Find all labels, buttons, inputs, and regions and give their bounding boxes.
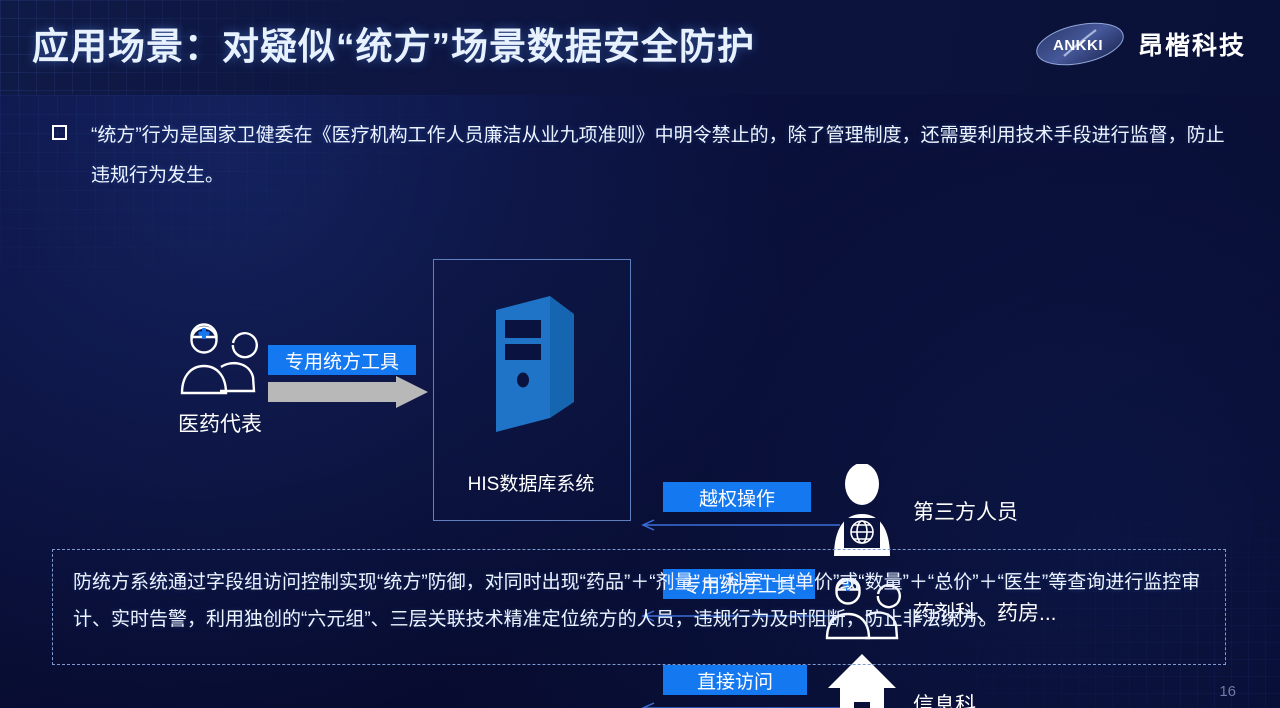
summary-note-box: 防统方系统通过字段组访问控制实现“统方”防御，对同时出现“药品”＋“剂量”＋“科… xyxy=(52,549,1226,665)
summary-note-text: 防统方系统通过字段组访问控制实现“统方”防御，对同时出现“药品”＋“剂量”＋“科… xyxy=(73,564,1203,638)
actor-label-third-party: 第三方人员 xyxy=(913,496,1018,526)
gray-block-arrow-icon xyxy=(268,376,428,408)
his-system-label: HIS数据库系统 xyxy=(433,469,629,496)
brand-logo: ANKKI 昂楷科技 xyxy=(1034,22,1246,66)
person-with-laptop-globe-icon xyxy=(826,464,898,556)
bullet-text: “统方”行为是国家卫健委在《医疗机构工作人员廉洁从业九项准则》中明令禁止的，除了… xyxy=(91,116,1242,196)
ankki-logo-icon: ANKKI xyxy=(1034,22,1126,66)
medical-rep-icon xyxy=(178,323,258,397)
arrow-left-1-icon xyxy=(640,518,840,530)
arrow-left-3-icon xyxy=(640,701,840,708)
flow-label-right-1: 越权操作 xyxy=(663,482,811,512)
architecture-diagram: HIS数据库系统 医药代表 专用统方工具 xyxy=(0,228,1280,540)
square-bullet-icon xyxy=(52,125,67,140)
brand-name: 昂楷科技 xyxy=(1138,26,1246,62)
bullet-paragraph: “统方”行为是国家卫健委在《医疗机构工作人员廉洁从业九项准则》中明令禁止的，除了… xyxy=(52,116,1242,196)
ankki-logo-text: ANKKI xyxy=(1053,37,1103,54)
server-tower-icon xyxy=(478,292,584,432)
medical-rep-label: 医药代表 xyxy=(150,408,290,438)
flow-label-left: 专用统方工具 xyxy=(268,345,416,375)
actor-label-it-dept: 信息科 xyxy=(913,689,976,708)
flow-label-right-3: 直接访问 xyxy=(663,665,807,695)
page-number: 16 xyxy=(1219,683,1236,700)
slide-root: 应用场景：对疑似“统方”场景数据安全防护 ANKKI xyxy=(0,0,1280,708)
slide-header: 应用场景：对疑似“统方”场景数据安全防护 ANKKI xyxy=(0,0,1280,95)
page-title: 应用场景：对疑似“统方”场景数据安全防护 xyxy=(32,16,755,70)
